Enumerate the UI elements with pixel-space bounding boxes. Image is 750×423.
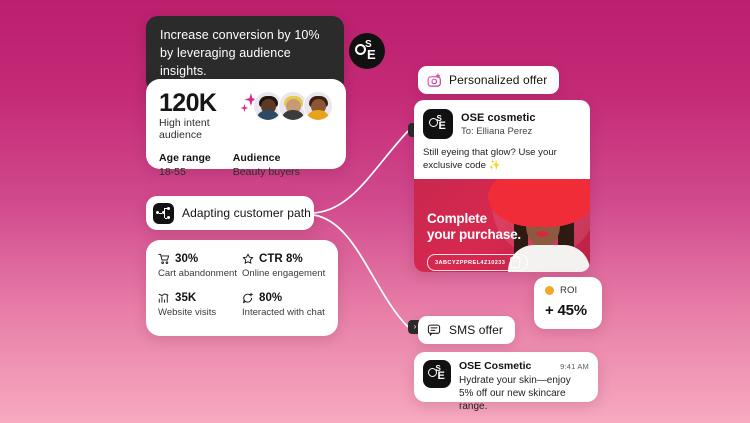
cart-icon	[158, 253, 170, 265]
meta-value: Beauty buyers	[233, 166, 300, 178]
ose-brand-tile-icon: S E	[423, 360, 451, 388]
ose-logo-badge: S E	[349, 33, 385, 69]
chip-sms-offer-label: SMS offer	[449, 323, 503, 337]
email-recipient: To: Elliana Perez	[461, 126, 536, 137]
stat-website-visits: 35K Website visits	[158, 292, 242, 318]
audience-caption: High intent audience	[159, 117, 236, 141]
flow-node-icon	[153, 203, 174, 224]
stat-chat-interaction: 80% Interacted with chat	[242, 292, 326, 318]
personalized-offer-icon	[427, 73, 442, 88]
stat-value: 30%	[175, 253, 198, 265]
adapting-customer-path-pill[interactable]: Adapting customer path	[146, 196, 314, 230]
audience-headline-row: 120K High intent audience	[159, 90, 333, 141]
email-sender-name: OSE cosmetic	[461, 112, 536, 124]
canvas: Increase conversion by 10% by leveraging…	[0, 0, 750, 423]
roi-value: + 45%	[545, 302, 602, 319]
stat-caption: Interacted with chat	[242, 307, 326, 318]
audience-meta-row: Age range 18-55 Audience Beauty buyers	[159, 152, 333, 178]
stat-ctr: CTR 8% Online engagement	[242, 253, 326, 279]
sms-text-line-1: Hydrate your skin—enjoy	[459, 374, 589, 387]
avatar-body	[256, 110, 280, 121]
sms-message-card: S E OSE Cosmetic 9:41 AM Hydrate your sk…	[414, 352, 598, 402]
sparkle-small-icon	[240, 104, 248, 112]
adapting-customer-path-label: Adapting customer path	[182, 206, 311, 220]
promo-code-text: 3ABCYZPPREL4Z10233	[435, 260, 505, 266]
promo-headline-line-2: your purchase.	[427, 227, 521, 243]
tooltip-line-1: Increase conversion by 10%	[160, 27, 330, 45]
ose-logo-icon: S E	[355, 40, 379, 62]
audience-meta-age: Age range 18-55	[159, 152, 211, 178]
roi-card: ROI + 45%	[534, 277, 602, 329]
email-sender-row: S E OSE cosmetic To: Elliana Perez	[423, 109, 581, 139]
audience-avatars	[258, 91, 333, 121]
audience-count: 120K	[159, 90, 236, 116]
chip-personalized-offer-label: Personalized offer	[449, 73, 547, 87]
stat-caption: Cart abandonment	[158, 268, 242, 279]
star-icon	[242, 253, 254, 265]
sms-sender-name: OSE Cosmetic	[459, 360, 531, 372]
audience-count-group: 120K High intent audience	[159, 90, 236, 141]
meta-label: Age range	[159, 152, 211, 164]
bar-chart-icon	[158, 292, 170, 304]
avatar	[303, 91, 333, 121]
promo-banner: Complete your purchase. 3ABCYZPPREL4Z102…	[414, 179, 590, 272]
logo-letter-e: E	[367, 48, 376, 61]
meta-value: 18-55	[159, 166, 211, 178]
stat-value: 35K	[175, 292, 196, 304]
stats-row: 35K Website visits 80% Interacted with c…	[158, 292, 326, 318]
sms-text-line-2: 5% off our new skincare range.	[459, 387, 589, 413]
chip-sms-offer[interactable]: SMS offer	[418, 316, 515, 344]
stat-caption: Online engagement	[242, 268, 326, 279]
sms-timestamp: 9:41 AM	[560, 362, 589, 371]
copy-icon[interactable]	[510, 257, 520, 268]
chevron-right-icon: ›	[414, 323, 417, 331]
stat-value: CTR 8%	[259, 253, 303, 265]
tooltip-line-2: by leveraging audience insights.	[160, 45, 330, 81]
roi-label: ROI	[560, 285, 577, 296]
chip-personalized-offer[interactable]: Personalized offer	[418, 66, 559, 94]
stat-value: 80%	[259, 292, 282, 304]
promo-code-chip[interactable]: 3ABCYZPPREL4Z10233	[427, 254, 528, 271]
audience-card: 120K High intent audience	[146, 79, 346, 169]
stats-card: 30% Cart abandonment CTR 8% Online engag…	[146, 240, 338, 336]
promo-headline: Complete your purchase.	[427, 211, 521, 243]
personalized-offer-card: S E OSE cosmetic To: Elliana Perez Still…	[414, 100, 590, 272]
audience-meta-audience: Audience Beauty buyers	[233, 152, 300, 178]
stats-row: 30% Cart abandonment CTR 8% Online engag…	[158, 253, 326, 279]
logo-letter-e: E	[438, 371, 445, 382]
chat-bubble-icon	[242, 292, 254, 304]
avatar-body	[306, 110, 330, 121]
email-body-text: Still eyeing that glow? Use your exclusi…	[423, 146, 581, 172]
ose-brand-tile-icon: S E	[423, 109, 453, 139]
stat-cart-abandonment: 30% Cart abandonment	[158, 253, 242, 279]
stat-caption: Website visits	[158, 307, 242, 318]
roi-status-dot-icon	[545, 286, 554, 295]
avatar-body	[281, 110, 305, 121]
promo-headline-line-1: Complete	[427, 211, 521, 227]
meta-label: Audience	[233, 152, 300, 164]
logo-letter-e: E	[439, 121, 446, 132]
sms-bubble-icon	[427, 323, 442, 338]
